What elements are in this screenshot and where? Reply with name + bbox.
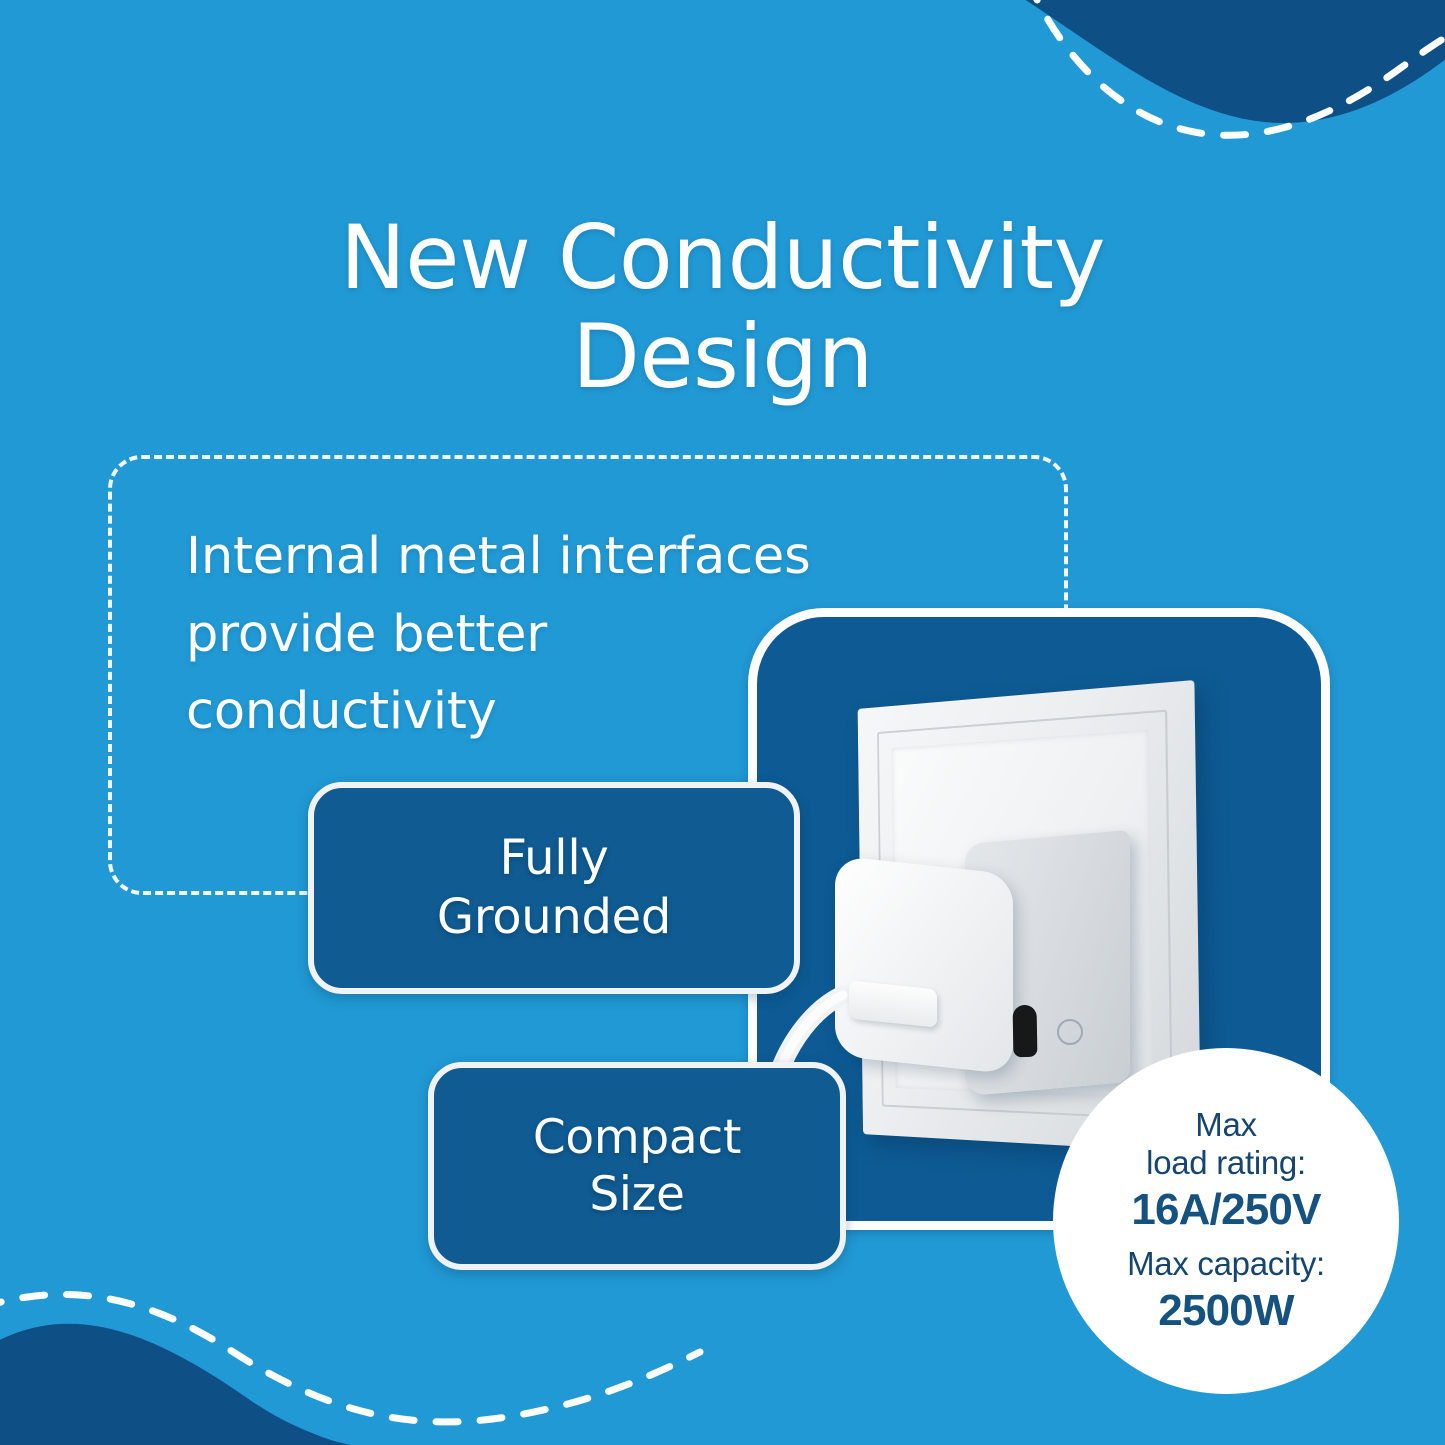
product-infographic-poster: New Conductivity Design Internal metal i… (0, 0, 1445, 1445)
page-title-line-2: Design (0, 308, 1445, 407)
spec-load-label-line-2: load rating: (1131, 1144, 1320, 1182)
badge-line-1: Compact (533, 1109, 741, 1166)
spec-load-value: 16A/250V (1131, 1184, 1320, 1235)
spec-capacity: Max capacity: 2500W (1127, 1245, 1325, 1336)
dashed-curve-bottom (0, 1294, 700, 1421)
spec-badge-circle: Max load rating: 16A/250V Max capacity: … (1053, 1048, 1399, 1394)
keyhole-icon (1013, 1005, 1038, 1057)
page-title: New Conductivity Design (0, 209, 1445, 406)
spec-capacity-value: 2500W (1127, 1285, 1325, 1336)
badge-line-2: Grounded (437, 888, 671, 947)
feature-badge-compact-size-text: Compact Size (533, 1109, 741, 1224)
badge-line-2: Size (533, 1166, 741, 1223)
wave-shape-bottom-left-2 (0, 1324, 600, 1445)
wave-shape-bottom-left (0, 1332, 540, 1445)
page-title-line-1: New Conductivity (0, 209, 1445, 308)
feature-badge-fully-grounded-text: Fully Grounded (437, 829, 671, 946)
feature-badge-fully-grounded[interactable]: Fully Grounded (308, 782, 800, 994)
badge-line-1: Fully (437, 829, 671, 888)
feature-badge-compact-size[interactable]: Compact Size (428, 1062, 846, 1270)
socket-screw-icon (1057, 1019, 1083, 1045)
callout-text-line-1: Internal metal interfaces (186, 518, 1036, 596)
dashed-curve-top (1028, 0, 1445, 135)
spec-capacity-label: Max capacity: (1127, 1245, 1325, 1283)
spec-load-rating: Max load rating: 16A/250V (1131, 1106, 1320, 1246)
wave-shape-top-right (1010, 0, 1445, 123)
spec-load-label-line-1: Max (1131, 1106, 1320, 1144)
